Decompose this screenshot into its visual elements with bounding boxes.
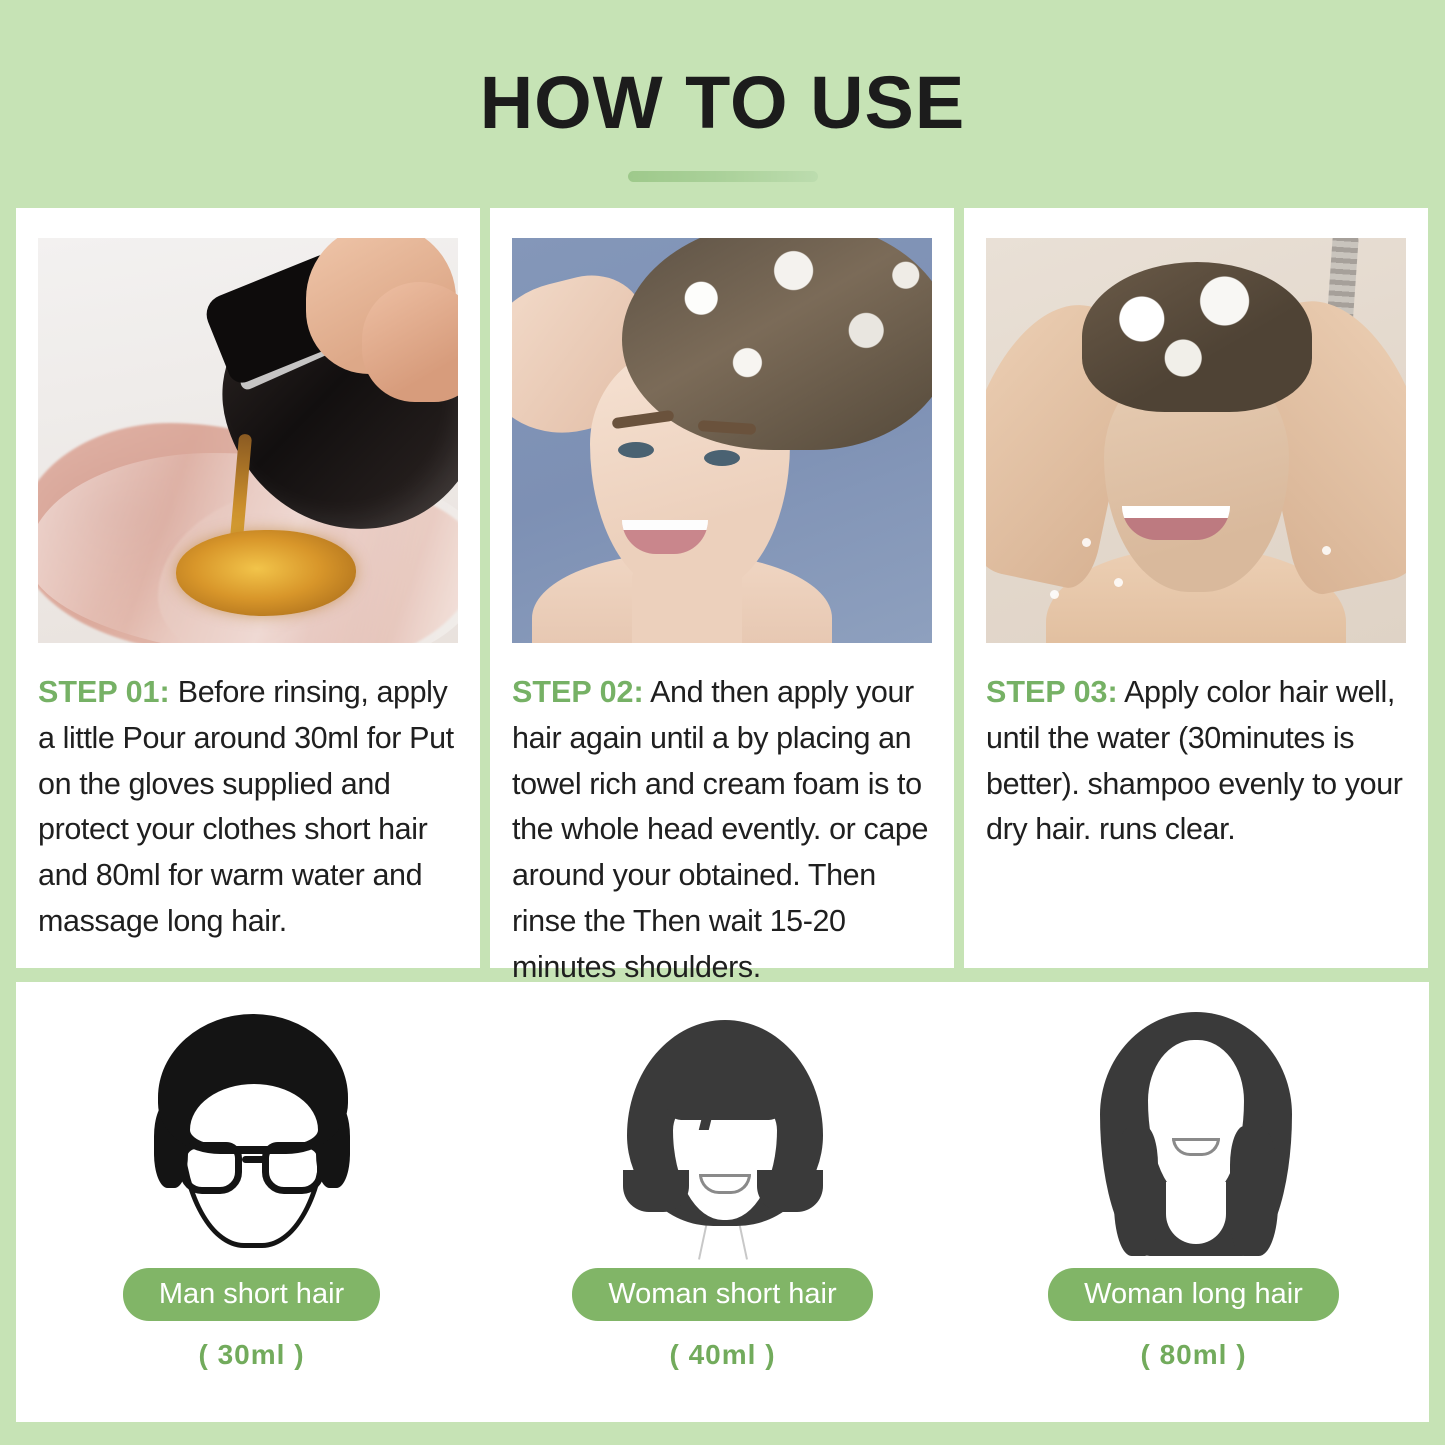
dosage-item-man-short-hair: Man short hair ( 30ml ): [16, 982, 487, 1422]
step-text-03: STEP 03: Apply color hair well, until th…: [986, 670, 1406, 853]
dosage-amount-woman-short-hair: ( 40ml ): [669, 1339, 775, 1371]
eye-right-shape: [704, 450, 740, 466]
woman-rinsing-hair-in-shower-photo: [986, 238, 1406, 643]
dosage-pill-woman-long-hair[interactable]: Woman long hair: [1048, 1268, 1339, 1321]
step-body-02: And then apply your hair again until a b…: [512, 675, 928, 984]
bangs-shape: [667, 1080, 783, 1120]
steps-row: STEP 01: Before rinsing, apply a little …: [16, 208, 1429, 968]
dosage-pill-woman-short-hair[interactable]: Woman short hair: [572, 1268, 872, 1321]
step-text-01: STEP 01: Before rinsing, apply a little …: [38, 670, 458, 945]
water-droplet: [1082, 538, 1091, 547]
eye-left-shape: [618, 442, 654, 458]
short-hair-shape: [158, 1014, 348, 1154]
dosage-amount-man-short-hair: ( 30ml ): [198, 1339, 304, 1371]
man-short-hair-icon: [132, 1006, 372, 1258]
step-body-01: Before rinsing, apply a little Pour arou…: [38, 675, 454, 938]
amber-liquid-pool-shape: [176, 530, 356, 616]
glasses-lens-left: [180, 1142, 242, 1194]
dosage-item-woman-long-hair: Woman long hair ( 80ml ): [958, 982, 1429, 1422]
woman-short-hair-icon: [603, 1006, 843, 1258]
step-text-02: STEP 02: And then apply your hair again …: [512, 670, 932, 990]
dosage-item-woman-short-hair: Woman short hair ( 40ml ): [487, 982, 958, 1422]
title-underline-rule: [628, 171, 818, 182]
step-label-01: STEP 01:: [38, 675, 170, 709]
step-label-03: STEP 03:: [986, 675, 1118, 709]
how-to-use-infographic: HOW TO USE STEP 01: Before rinsing, appl…: [0, 0, 1445, 1445]
dosage-amount-woman-long-hair: ( 80ml ): [1140, 1339, 1246, 1371]
dosage-card: Man short hair ( 30ml ) Woman short hair…: [16, 982, 1429, 1422]
dosage-pill-man-short-hair[interactable]: Man short hair: [123, 1268, 380, 1321]
hair-tip-left: [623, 1170, 689, 1212]
hair-strand-left: [1114, 1126, 1158, 1256]
chin-shape: [1166, 1182, 1226, 1244]
pouring-oil-onto-gloved-hand-photo: [38, 238, 458, 643]
index-finger-shape: [362, 282, 458, 402]
header: HOW TO USE: [0, 0, 1445, 200]
wet-foamy-hair-shape: [1082, 262, 1312, 412]
hair-strand-right: [1230, 1126, 1278, 1256]
step-card-01: STEP 01: Before rinsing, apply a little …: [16, 208, 480, 968]
glasses-lens-right: [262, 1142, 324, 1194]
step-card-03: STEP 03: Apply color hair well, until th…: [964, 208, 1428, 968]
glasses-bridge: [242, 1156, 266, 1163]
smiling-mouth-shape: [1122, 506, 1230, 540]
step-label-02: STEP 02:: [512, 675, 644, 709]
water-droplet: [1050, 590, 1059, 599]
page-title: HOW TO USE: [0, 60, 1445, 145]
water-droplet: [1114, 578, 1123, 587]
water-droplet: [1322, 546, 1331, 555]
hair-tip-right: [757, 1170, 823, 1212]
woman-lathering-foam-in-hair-photo: [512, 238, 932, 643]
woman-long-hair-icon: [1074, 1006, 1314, 1258]
step-card-02: STEP 02: And then apply your hair again …: [490, 208, 954, 968]
